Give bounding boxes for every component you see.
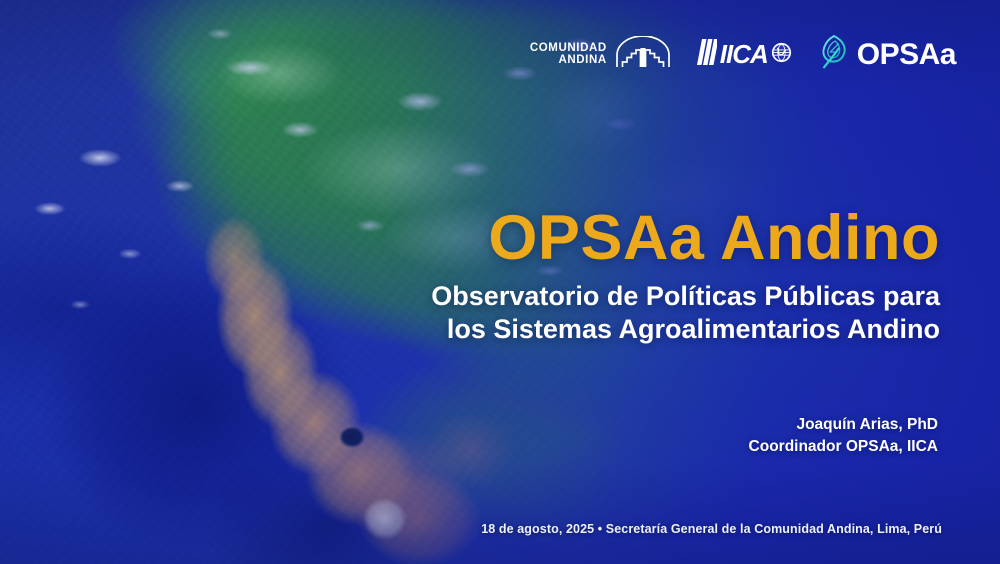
author-name: Joaquín Arias, PhD [749,414,938,436]
logo-comunidad-andina: COMUNIDAD ANDINA [530,36,671,73]
iica-slashes-icon [697,39,717,70]
andean-arch-icon [615,36,671,73]
page-title: OPSAa Andino [320,206,940,272]
globe-icon [771,42,792,68]
subtitle-line-2: los Sistemas Agroalimentarios Andino [447,314,940,344]
logo-bar: COMUNIDAD ANDINA [530,34,956,75]
title-block: OPSAa Andino Observatorio de Políticas P… [320,206,940,346]
comunidad-andina-line2: ANDINA [558,55,606,67]
author-role: Coordinador OPSAa, IICA [749,436,938,458]
opsaa-wordmark: OPSAa [857,38,956,72]
subtitle-line-1: Observatorio de Políticas Públicas para [431,281,940,311]
page-subtitle: Observatorio de Políticas Públicas para … [320,280,940,347]
logo-opsaa: OPSAa [818,34,956,75]
comunidad-andina-wordmark: COMUNIDAD ANDINA [530,43,607,67]
iica-wordmark: IICA [720,39,768,70]
author-block: Joaquín Arias, PhD Coordinador OPSAa, II… [749,414,938,458]
footer-event-line: 18 de agosto, 2025 • Secretaría General … [481,522,942,536]
logo-iica: IICA [697,39,792,70]
leaf-icon [818,34,850,75]
comunidad-andina-line1: COMUNIDAD [530,43,607,55]
title-slide: COMUNIDAD ANDINA [0,0,1000,564]
